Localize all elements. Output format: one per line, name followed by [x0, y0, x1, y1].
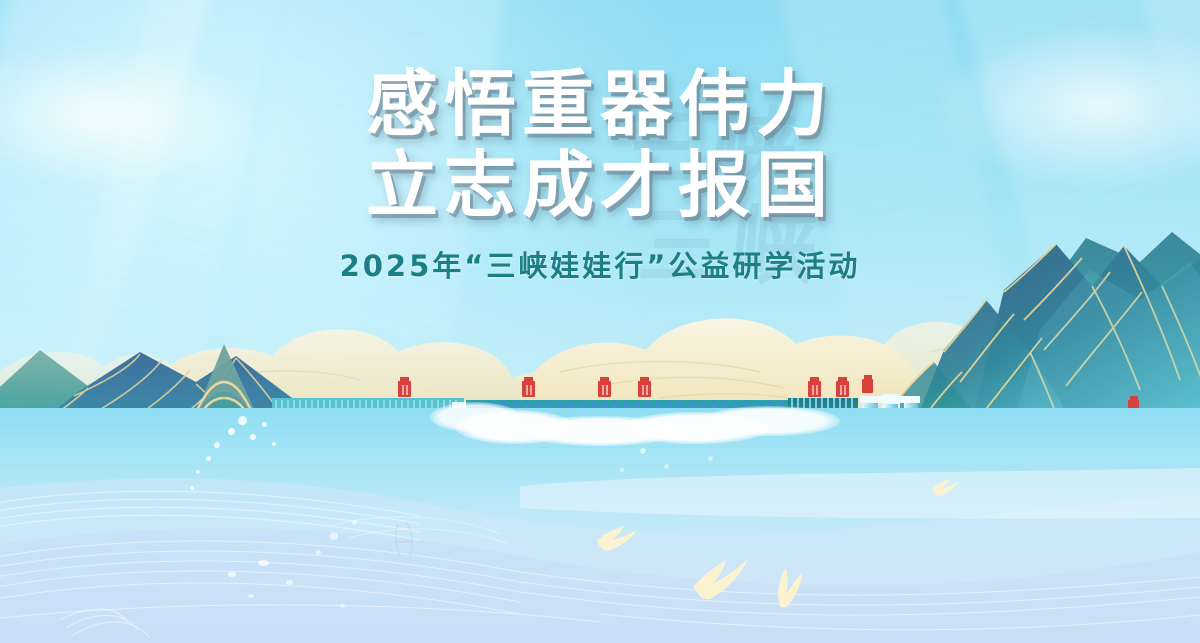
banner-root: 三峡 三峡 感悟重器伟力 立志成才报国 2025年“三峡娃娃行”公益研学活动 [0, 0, 1200, 643]
headline-block: 感悟重器伟力 立志成才报国 2025年“三峡娃娃行”公益研学活动 [0, 64, 1200, 285]
bubble [190, 486, 194, 490]
bubble [248, 594, 254, 598]
bird-3 [770, 566, 804, 608]
title-line-1: 感悟重器伟力 [0, 64, 1200, 145]
bird-1 [594, 524, 640, 558]
bubble [250, 434, 256, 440]
bubble [640, 448, 646, 454]
bubble [708, 456, 713, 461]
bubble [258, 560, 269, 566]
bubble [214, 442, 220, 448]
title-line-2: 立志成才报国 [0, 145, 1200, 226]
bubble [620, 468, 624, 472]
foam-splash [430, 402, 520, 432]
bubble [238, 416, 247, 425]
bird-2 [690, 556, 752, 604]
bubble [228, 572, 236, 577]
bubble [286, 580, 293, 585]
bubble [330, 532, 338, 540]
bubble [352, 520, 357, 525]
bubble [206, 456, 211, 461]
bubble [262, 422, 267, 427]
bubble [664, 464, 669, 469]
bubble [196, 470, 200, 474]
bird-4 [930, 478, 960, 500]
foam-splash [700, 406, 840, 436]
subtitle: 2025年“三峡娃娃行”公益研学活动 [0, 243, 1200, 285]
bubble [272, 442, 276, 446]
bubble [228, 428, 235, 435]
bubble [340, 604, 345, 608]
bubble [316, 550, 321, 555]
